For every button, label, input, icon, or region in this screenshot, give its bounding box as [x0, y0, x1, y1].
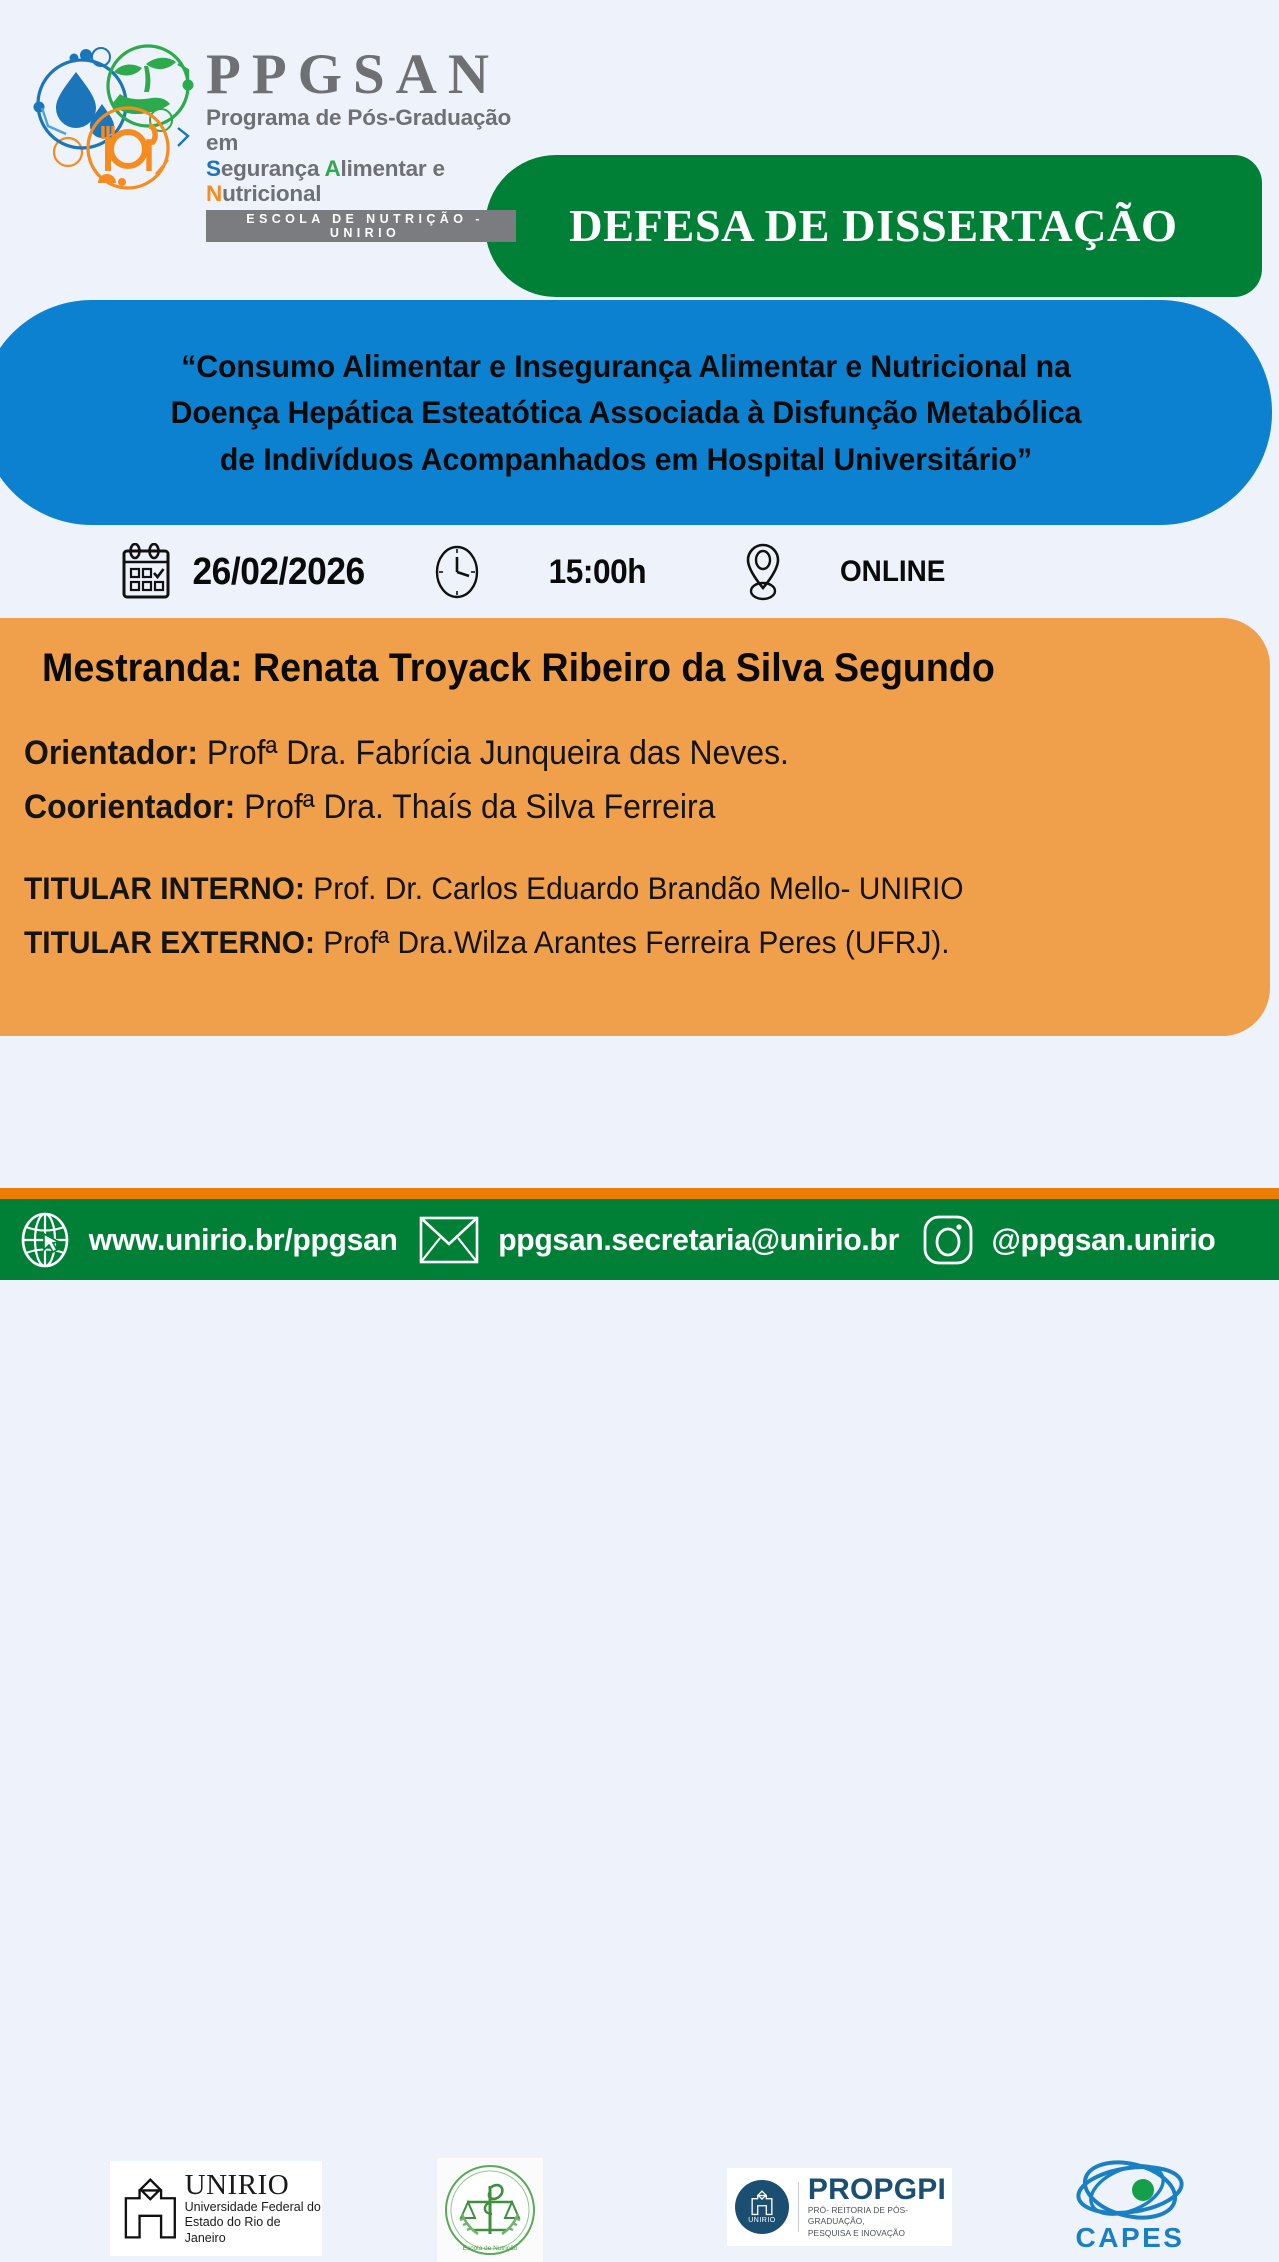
calendar-icon: [120, 543, 172, 601]
instagram-icon: [920, 1212, 976, 1268]
ppgsan-logo-mark: [28, 42, 200, 190]
banner-title: DEFESA DE DISSERTAÇÃO: [569, 200, 1177, 252]
coadvisor-name: Profª Dra. Thaís da Silva Ferreira: [244, 788, 715, 826]
thesis-title-block: “Consumo Alimentar e Insegurança Aliment…: [0, 300, 1272, 525]
location-pin-icon: [738, 541, 788, 603]
capes-symbol-icon: [1065, 2160, 1195, 2226]
event-location-item: ONLINE: [738, 541, 949, 603]
instagram-handle: @ppgsan.unirio: [991, 1222, 1215, 1258]
email-address: ppgsan.secretaria@unirio.br: [499, 1222, 900, 1258]
ppgsan-logo: PPGSAN Programa de Pós-Graduação em Segu…: [28, 42, 548, 192]
event-date-item: 26/02/2026: [120, 543, 371, 601]
website-url: www.unirio.br/ppgsan: [89, 1222, 398, 1258]
external-member-label: TITULAR EXTERNO:: [24, 924, 315, 960]
propgpi-subtitle-2: PESQUISA E INOVAÇÃO: [808, 2228, 952, 2239]
event-time: 15:00h: [549, 553, 646, 592]
event-date: 26/02/2026: [192, 551, 364, 594]
logo-s-letter: S: [206, 156, 221, 181]
escola-nutricao-seal-icon: Escola de Nutrição: [442, 2162, 538, 2258]
external-member-line: TITULAR EXTERNO: Profª Dra.Wilza Arantes…: [24, 924, 950, 961]
event-info-row: 26/02/2026 15:00h ONLINE: [0, 528, 1279, 616]
student-line: Mestranda: Renata Troyack Ribeiro da Sil…: [42, 646, 995, 691]
internal-member-name: Prof. Dr. Carlos Eduardo Brandão Mello- …: [313, 870, 963, 906]
food-water-plant-icon: [28, 42, 200, 190]
globe-icon: [18, 1210, 72, 1270]
svg-text:Escola de Nutrição: Escola de Nutrição: [463, 2245, 518, 2252]
ppgsan-acronym: PPGSAN: [206, 46, 536, 103]
coadvisor-line: Coorientador: Profª Dra. Thaís da Silva …: [24, 788, 715, 827]
event-location: ONLINE: [840, 555, 945, 589]
propgpi-logo: UNIRIO PROPGPI PRÓ- REITORIA DE PÓS-GRAD…: [727, 2168, 952, 2246]
envelope-icon: [418, 1214, 480, 1266]
propgpi-subtitle-1: PRÓ- REITORIA DE PÓS-GRADUAÇÃO,: [808, 2205, 952, 2227]
unirio-logo: UNIRIO Universidade Federal do Estado do…: [110, 2161, 322, 2256]
external-member-name: Profª Dra.Wilza Arantes Ferreira Peres (…: [323, 924, 949, 960]
ppgsan-logo-text: PPGSAN Programa de Pós-Graduação em Segu…: [206, 42, 536, 242]
website-item[interactable]: www.unirio.br/ppgsan: [18, 1210, 402, 1270]
propgpi-name: PROPGPI: [808, 2175, 952, 2205]
people-block: Mestranda: Renata Troyack Ribeiro da Sil…: [0, 618, 1270, 1036]
logo-n-letter: N: [206, 181, 222, 206]
advisor-name: Profª Dra. Fabrícia Junqueira das Neves.: [207, 734, 789, 772]
unirio-subtitle-2: Estado do Rio de Janeiro: [185, 2215, 322, 2246]
propgpi-seal-label: UNIRIO: [748, 2217, 776, 2224]
orange-divider-stripe: [0, 1188, 1279, 1199]
event-time-item: 15:00h: [431, 543, 650, 601]
internal-member-line: TITULAR INTERNO: Prof. Dr. Carlos Eduard…: [24, 870, 964, 907]
instagram-item[interactable]: @ppgsan.unirio: [920, 1212, 1219, 1268]
ppgsan-school-line: ESCOLA DE NUTRIÇÃO - UNIRIO: [206, 210, 516, 242]
unirio-subtitle-1: Universidade Federal do: [185, 2200, 322, 2216]
ppgsan-subtitle-line2: Segurança Alimentar e Nutricional: [206, 156, 536, 206]
logo-alimentar-rest: limentar e: [341, 156, 445, 181]
capes-name: CAPES: [1076, 2222, 1185, 2254]
clock-icon: [431, 543, 483, 601]
partner-logos: UNIRIO Universidade Federal do Estado do…: [0, 1078, 1279, 1188]
ppgsan-subtitle-line1: Programa de Pós-Graduação em: [206, 106, 536, 156]
unirio-symbol-icon: [120, 2176, 181, 2242]
propgpi-unirio-symbol-icon: [749, 2190, 775, 2216]
advisor-line: Orientador: Profª Dra. Fabrícia Junqueir…: [24, 734, 789, 773]
unirio-name: UNIRIO: [185, 2171, 322, 2200]
propgpi-divider: [798, 2182, 799, 2232]
thesis-title-line-3: de Indivíduos Acompanhados em Hospital U…: [103, 436, 1149, 482]
contact-bar: www.unirio.br/ppgsan ppgsan.secretaria@u…: [0, 1199, 1279, 1280]
advisor-label: Orientador:: [24, 734, 198, 772]
thesis-title-line-1: “Consumo Alimentar e Insegurança Aliment…: [103, 343, 1149, 389]
capes-logo: CAPES: [1060, 2160, 1200, 2260]
unirio-wordmark: UNIRIO Universidade Federal do Estado do…: [185, 2171, 322, 2247]
escola-nutricao-logo: Escola de Nutrição: [437, 2158, 543, 2262]
propgpi-unirio-seal-icon: UNIRIO: [735, 2180, 789, 2234]
logo-a-letter: A: [324, 156, 340, 181]
logo-nutricional-rest: utricional: [222, 181, 321, 206]
defense-banner: DEFESA DE DISSERTAÇÃO: [485, 155, 1262, 297]
coadvisor-label: Coorientador:: [24, 788, 235, 826]
thesis-title: “Consumo Alimentar e Insegurança Aliment…: [103, 343, 1149, 482]
internal-member-label: TITULAR INTERNO:: [24, 870, 305, 906]
propgpi-wordmark: PROPGPI PRÓ- REITORIA DE PÓS-GRADUAÇÃO, …: [808, 2175, 952, 2239]
email-item[interactable]: ppgsan.secretaria@unirio.br: [418, 1214, 905, 1266]
logo-seguranca-rest: egurança: [221, 156, 325, 181]
thesis-title-line-2: Doença Hepática Esteatótica Associada à …: [103, 389, 1149, 435]
